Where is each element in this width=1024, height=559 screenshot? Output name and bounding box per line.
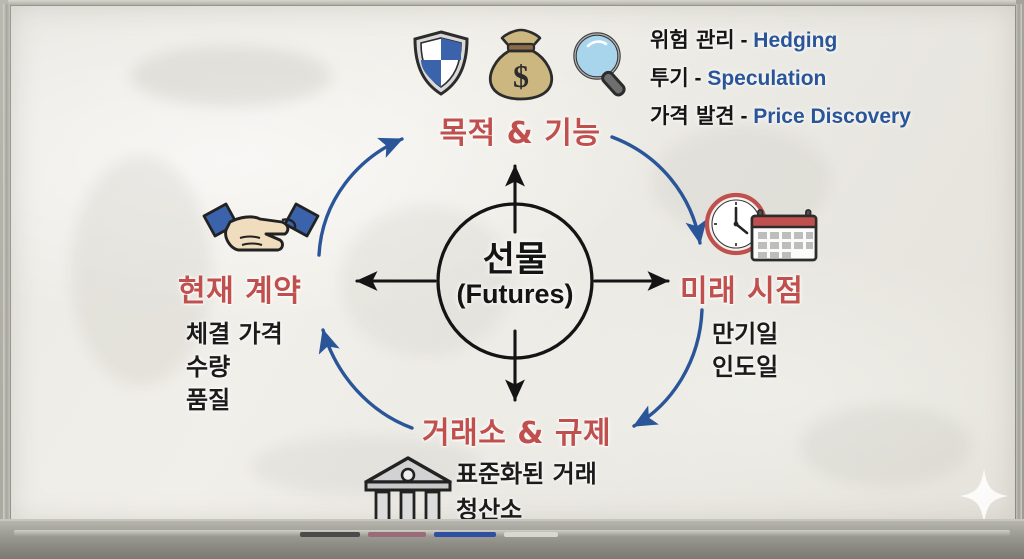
legend-row-1: 투기 - Speculation [650,62,950,92]
purpose-icon-row: $ [405,24,635,104]
node-future-time-title: 미래 시점 [680,266,803,310]
svg-text:$: $ [513,58,529,94]
legend-term-en-1: Speculation [707,67,826,90]
legend-term-ko-1: 투기 [650,66,689,90]
legend-term-ko-2: 가격 발견 [650,104,735,128]
whiteboard-photo: 선물 (Futures) $ [0,0,1024,559]
diagram-canvas: 선물 (Futures) $ [0,0,1024,559]
center-title-en: (Futures) [435,279,595,310]
marker-blue[interactable] [434,532,496,537]
legend: 위험 관리 - Hedging 투기 - Speculation 가격 발견 -… [650,24,950,130]
legend-term-en-2: Price Discovery [753,105,911,128]
node-current-contract-sub-0: 체결 가격 [186,314,283,349]
node-exchange-regulation-sub-0: 표준화된 거래 [456,454,597,489]
center-node[interactable]: 선물 (Futures) [435,201,595,361]
money-bag-icon: $ [490,30,551,99]
legend-row-0: 위험 관리 - Hedging [650,24,950,54]
legend-dash-0: - [740,29,747,52]
calendar-icon [752,210,816,260]
legend-term-ko-0: 위험 관리 [650,28,735,52]
marker-white[interactable] [504,532,558,537]
legend-row-2: 가격 발견 - Price Discovery [650,100,950,130]
shield-icon [415,32,467,94]
node-current-contract[interactable]: 현재 계약 체결 가격 수량 품질 [178,190,378,400]
node-purpose-title: 목적 & 기능 [400,108,640,152]
marker-tray [0,519,1024,559]
node-future-time[interactable]: 미래 시점 만기일 인도일 [676,186,876,386]
center-title-ko: 선물 [435,231,595,282]
legend-dash-2: - [740,105,747,128]
future-time-icon-row [696,186,836,262]
marker-black[interactable] [300,532,360,537]
node-exchange-regulation-title: 거래소 & 규제 [422,408,611,452]
handshake-icon [196,190,326,268]
node-future-time-sub-0: 만기일 [712,314,778,349]
marker-red[interactable] [368,532,426,537]
node-current-contract-sub-1: 수량 [186,347,230,382]
legend-dash-1: - [694,67,701,90]
node-future-time-sub-1: 인도일 [712,347,778,382]
ai-sparkle-watermark [958,467,1010,525]
node-purpose[interactable]: $ 목적 & 기능 [400,24,640,154]
node-current-contract-sub-2: 품질 [186,380,230,415]
magnifying-glass-icon [575,34,626,97]
legend-term-en-0: Hedging [753,29,837,52]
node-current-contract-title: 현재 계약 [178,266,301,310]
